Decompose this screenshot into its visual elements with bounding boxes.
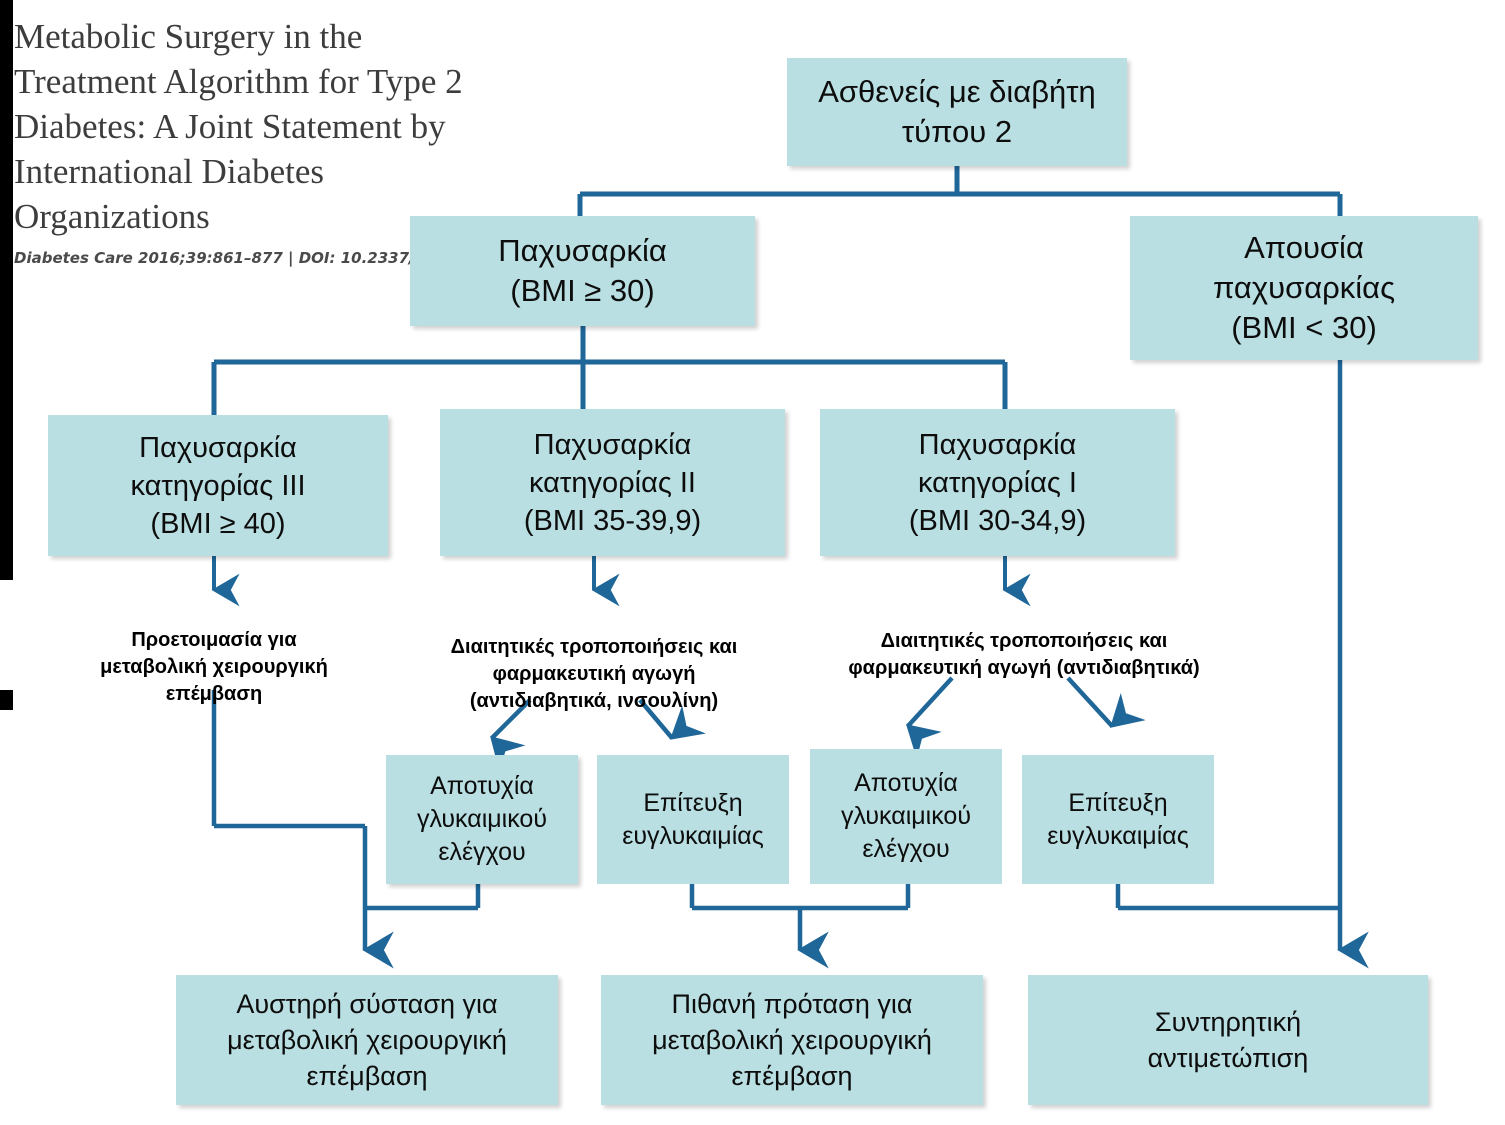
node-euglycemia-class-1-label: Επίτευξη ευγλυκαιμίας	[1022, 787, 1214, 853]
page-title: Metabolic Surgery in the Treatment Algor…	[14, 14, 514, 239]
node-obesity-class-1-label: Παχυσαρκία κατηγορίας I (BMI 30-34,9)	[820, 426, 1175, 540]
node-obesity-class-3[interactable]: Παχυσαρκία κατηγορίας III (BMI ≥ 40)	[48, 415, 388, 556]
node-no-obesity-label: Απουσία παχυσαρκίας (BMI < 30)	[1130, 228, 1478, 348]
flowchart-canvas: Metabolic Surgery in the Treatment Algor…	[0, 0, 1505, 1125]
action-text-class-2-label: Διαιτητικές τροποποιήσεις και φαρμακευτι…	[451, 636, 738, 712]
node-outcome-strong-recommendation[interactable]: Αυστηρή σύσταση για μεταβολική χειρουργι…	[176, 975, 558, 1105]
node-outcome-conservative[interactable]: Συντηρητική αντιμετώπιση	[1028, 975, 1428, 1105]
node-glycemic-failure-class-1[interactable]: Αποτυχία γλυκαιμικού ελέγχου	[810, 749, 1002, 884]
node-outcome-possible-proposal[interactable]: Πιθανή πρόταση για μεταβολική χειρουργικ…	[601, 975, 983, 1105]
node-obesity-class-2-label: Παχυσαρκία κατηγορίας II (BMI 35-39,9)	[440, 426, 785, 540]
node-obesity-class-2[interactable]: Παχυσαρκία κατηγορίας II (BMI 35-39,9)	[440, 409, 785, 556]
node-obesity-class-1[interactable]: Παχυσαρκία κατηγορίας I (BMI 30-34,9)	[820, 409, 1175, 556]
node-outcome-conservative-label: Συντηρητική αντιμετώπιση	[1028, 1004, 1428, 1076]
node-obesity[interactable]: Παχυσαρκία (BMI ≥ 30)	[410, 216, 755, 326]
action-text-class-2: Διαιτητικές τροποποιήσεις και φαρμακευτι…	[388, 607, 800, 715]
node-outcome-strong-recommendation-label: Αυστηρή σύσταση για μεταβολική χειρουργι…	[176, 986, 558, 1094]
node-glycemic-failure-class-2-label: Αποτυχία γλυκαιμικού ελέγχου	[386, 770, 578, 869]
node-euglycemia-class-2-label: Επίτευξη ευγλυκαιμίας	[597, 787, 789, 853]
action-text-class-3: Προετοιμασία για μεταβολική χειρουργική …	[44, 600, 384, 708]
action-text-class-1-label: Διαιτητικές τροποποιήσεις και φαρμακευτι…	[848, 630, 1199, 679]
left-edge-bar-top	[0, 0, 13, 580]
node-outcome-possible-proposal-label: Πιθανή πρόταση για μεταβολική χειρουργικ…	[601, 986, 983, 1094]
node-glycemic-failure-class-2[interactable]: Αποτυχία γλυκαιμικού ελέγχου	[386, 755, 578, 884]
node-obesity-class-3-label: Παχυσαρκία κατηγορίας III (BMI ≥ 40)	[48, 429, 388, 543]
node-root-patients-label: Ασθενείς με διαβήτη τύπου 2	[787, 72, 1127, 152]
node-obesity-label: Παχυσαρκία (BMI ≥ 30)	[410, 231, 755, 311]
node-euglycemia-class-2[interactable]: Επίτευξη ευγλυκαιμίας	[597, 755, 789, 884]
left-edge-bar-bottom	[0, 690, 13, 710]
action-text-class-3-label: Προετοιμασία για μεταβολική χειρουργική …	[100, 629, 328, 705]
node-glycemic-failure-class-1-label: Αποτυχία γλυκαιμικού ελέγχου	[810, 767, 1002, 866]
action-text-class-1: Διαιτητικές τροποποιήσεις και φαρμακευτι…	[786, 601, 1262, 682]
node-euglycemia-class-1[interactable]: Επίτευξη ευγλυκαιμίας	[1022, 755, 1214, 884]
node-root-patients[interactable]: Ασθενείς με διαβήτη τύπου 2	[787, 58, 1127, 166]
node-no-obesity[interactable]: Απουσία παχυσαρκίας (BMI < 30)	[1130, 216, 1478, 360]
